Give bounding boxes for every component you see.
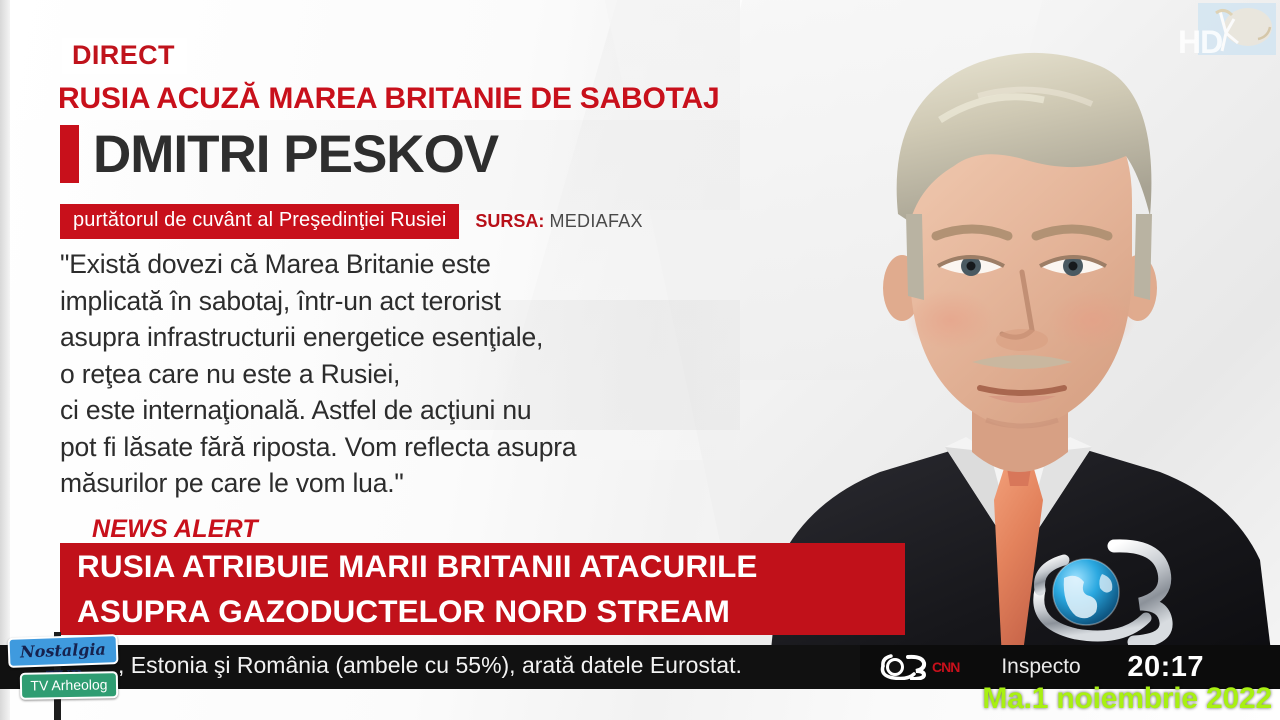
live-headline: RUSIA ACUZĂ MAREA BRITANIE DE SABOTAJ bbox=[58, 82, 720, 116]
antena3-globe-logo bbox=[1018, 538, 1188, 646]
cnn-wordmark: CNN bbox=[932, 659, 959, 675]
news-alert-line: RUSIA ATRIBUIE MARII BRITANII ATACURILE bbox=[60, 543, 905, 589]
speaker-role: purtătorul de cuvânt al Preşedinţiei Rus… bbox=[60, 204, 459, 239]
name-accent-bar bbox=[60, 125, 79, 183]
nostalgia-tvr-watermark: Nostalgia TVR TV Arheolog bbox=[2, 632, 134, 720]
quote-line: o reţea care nu este a Rusiei, bbox=[60, 356, 720, 393]
hd-label: HD bbox=[1178, 24, 1222, 61]
ticker-crawl-text: , Estonia şi România (ambele cu 55%), ar… bbox=[118, 652, 742, 679]
news-alert-line: ASUPRA GAZODUCTELOR NORD STREAM bbox=[60, 589, 905, 634]
live-badge: DIRECT bbox=[62, 38, 187, 74]
ticker-clock: 20:17 bbox=[1127, 651, 1204, 684]
quote-line: măsurilor pe care le vom lua." bbox=[60, 465, 720, 502]
quote-block: "Există dovezi că Marea Britanie este im… bbox=[60, 246, 720, 502]
speaker-name: DMITRI PESKOV bbox=[93, 128, 498, 181]
speaker-name-row: DMITRI PESKOV bbox=[60, 125, 498, 183]
news-alert-banner: RUSIA ATRIBUIE MARII BRITANII ATACURILE … bbox=[60, 543, 905, 635]
source-credit: SURSA: MEDIAFAX bbox=[475, 211, 642, 232]
source-value: MEDIAFAX bbox=[549, 211, 642, 231]
quote-line: implicată în sabotaj, într-un act terori… bbox=[60, 283, 720, 320]
quote-line: pot fi lăsate fără riposta. Vom reflecta… bbox=[60, 429, 720, 466]
sign-tv-arheolog: TV Arheolog bbox=[20, 671, 118, 700]
left-edge-rail bbox=[0, 0, 10, 720]
sign-nostalgia-tvr: Nostalgia TVR bbox=[8, 634, 119, 668]
sign-arheolog-label: TV Arheolog bbox=[22, 673, 116, 698]
quote-line: "Există dovezi că Marea Britanie este bbox=[60, 246, 720, 283]
antena3-cnn-small-logo bbox=[878, 654, 930, 680]
speaker-role-row: purtătorul de cuvânt al Preşedinţiei Rus… bbox=[60, 204, 643, 239]
broadcast-frame: HD DIRECT RUSIA ACUZĂ MAREA BRITANIE DE … bbox=[0, 0, 1280, 720]
quote-line: asupra infrastructurii energetice esenţi… bbox=[60, 319, 720, 356]
news-alert-kicker: NEWS ALERT bbox=[92, 515, 258, 544]
ticker-program-name: Inspecto bbox=[1001, 655, 1113, 679]
source-label: SURSA: bbox=[475, 211, 544, 231]
quote-line: ci este internaţională. Astfel de acţiun… bbox=[60, 392, 720, 429]
ticker-date: Ma.1 noiembrie 2022 bbox=[982, 682, 1272, 716]
